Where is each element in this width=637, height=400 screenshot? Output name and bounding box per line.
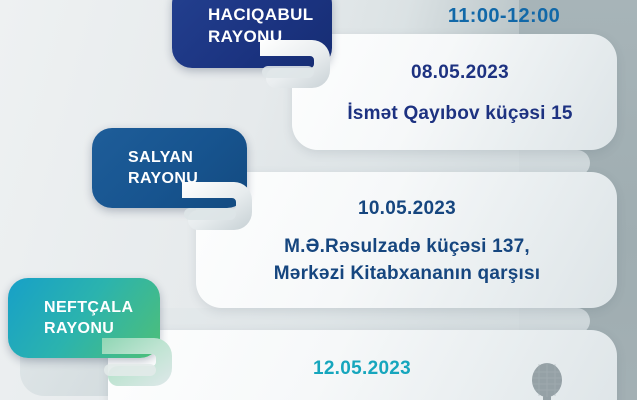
entry-date-3: 12.05.2023 xyxy=(122,358,602,380)
entry-date-1: 08.05.2023 xyxy=(312,62,608,84)
poster-canvas: HACIQABUL RAYONU 08.05.2023 İsmət Qayıbo… xyxy=(0,0,637,400)
region-badge-neftcala[interactable]: NEFTÇALA RAYONU xyxy=(8,278,160,358)
entry-text-3: 12.05.2023 xyxy=(122,358,602,380)
region-badge-haciqabul-line1: HACIQABUL xyxy=(208,4,332,26)
region-badge-neftcala-line1: NEFTÇALA xyxy=(44,297,160,318)
region-badge-neftcala-line2: RAYONU xyxy=(44,318,160,339)
entry-address-2-line1: M.Ə.Rəsulzadə küçəsi 137, xyxy=(210,234,604,261)
region-badge-salyan-line2: RAYONU xyxy=(128,168,247,189)
entry-date-2: 10.05.2023 xyxy=(210,198,604,220)
region-badge-salyan[interactable]: SALYAN RAYONU xyxy=(92,128,247,208)
entry-text-1: 08.05.2023 İsmət Qayıbov küçəsi 15 xyxy=(312,62,608,128)
entry-address-2-line2: Mərkəzi Kitabxananın qarşısı xyxy=(210,261,604,288)
entry-address-1: İsmət Qayıbov küçəsi 15 xyxy=(312,101,608,128)
region-badge-salyan-line1: SALYAN xyxy=(128,147,247,168)
time-range-label: 11:00-12:00 xyxy=(414,5,594,28)
entry-text-2: 10.05.2023 M.Ə.Rəsulzadə küçəsi 137, Mər… xyxy=(210,198,604,288)
region-badge-haciqabul-line2: RAYONU xyxy=(208,26,332,48)
region-badge-haciqabul[interactable]: HACIQABUL RAYONU xyxy=(172,0,332,68)
